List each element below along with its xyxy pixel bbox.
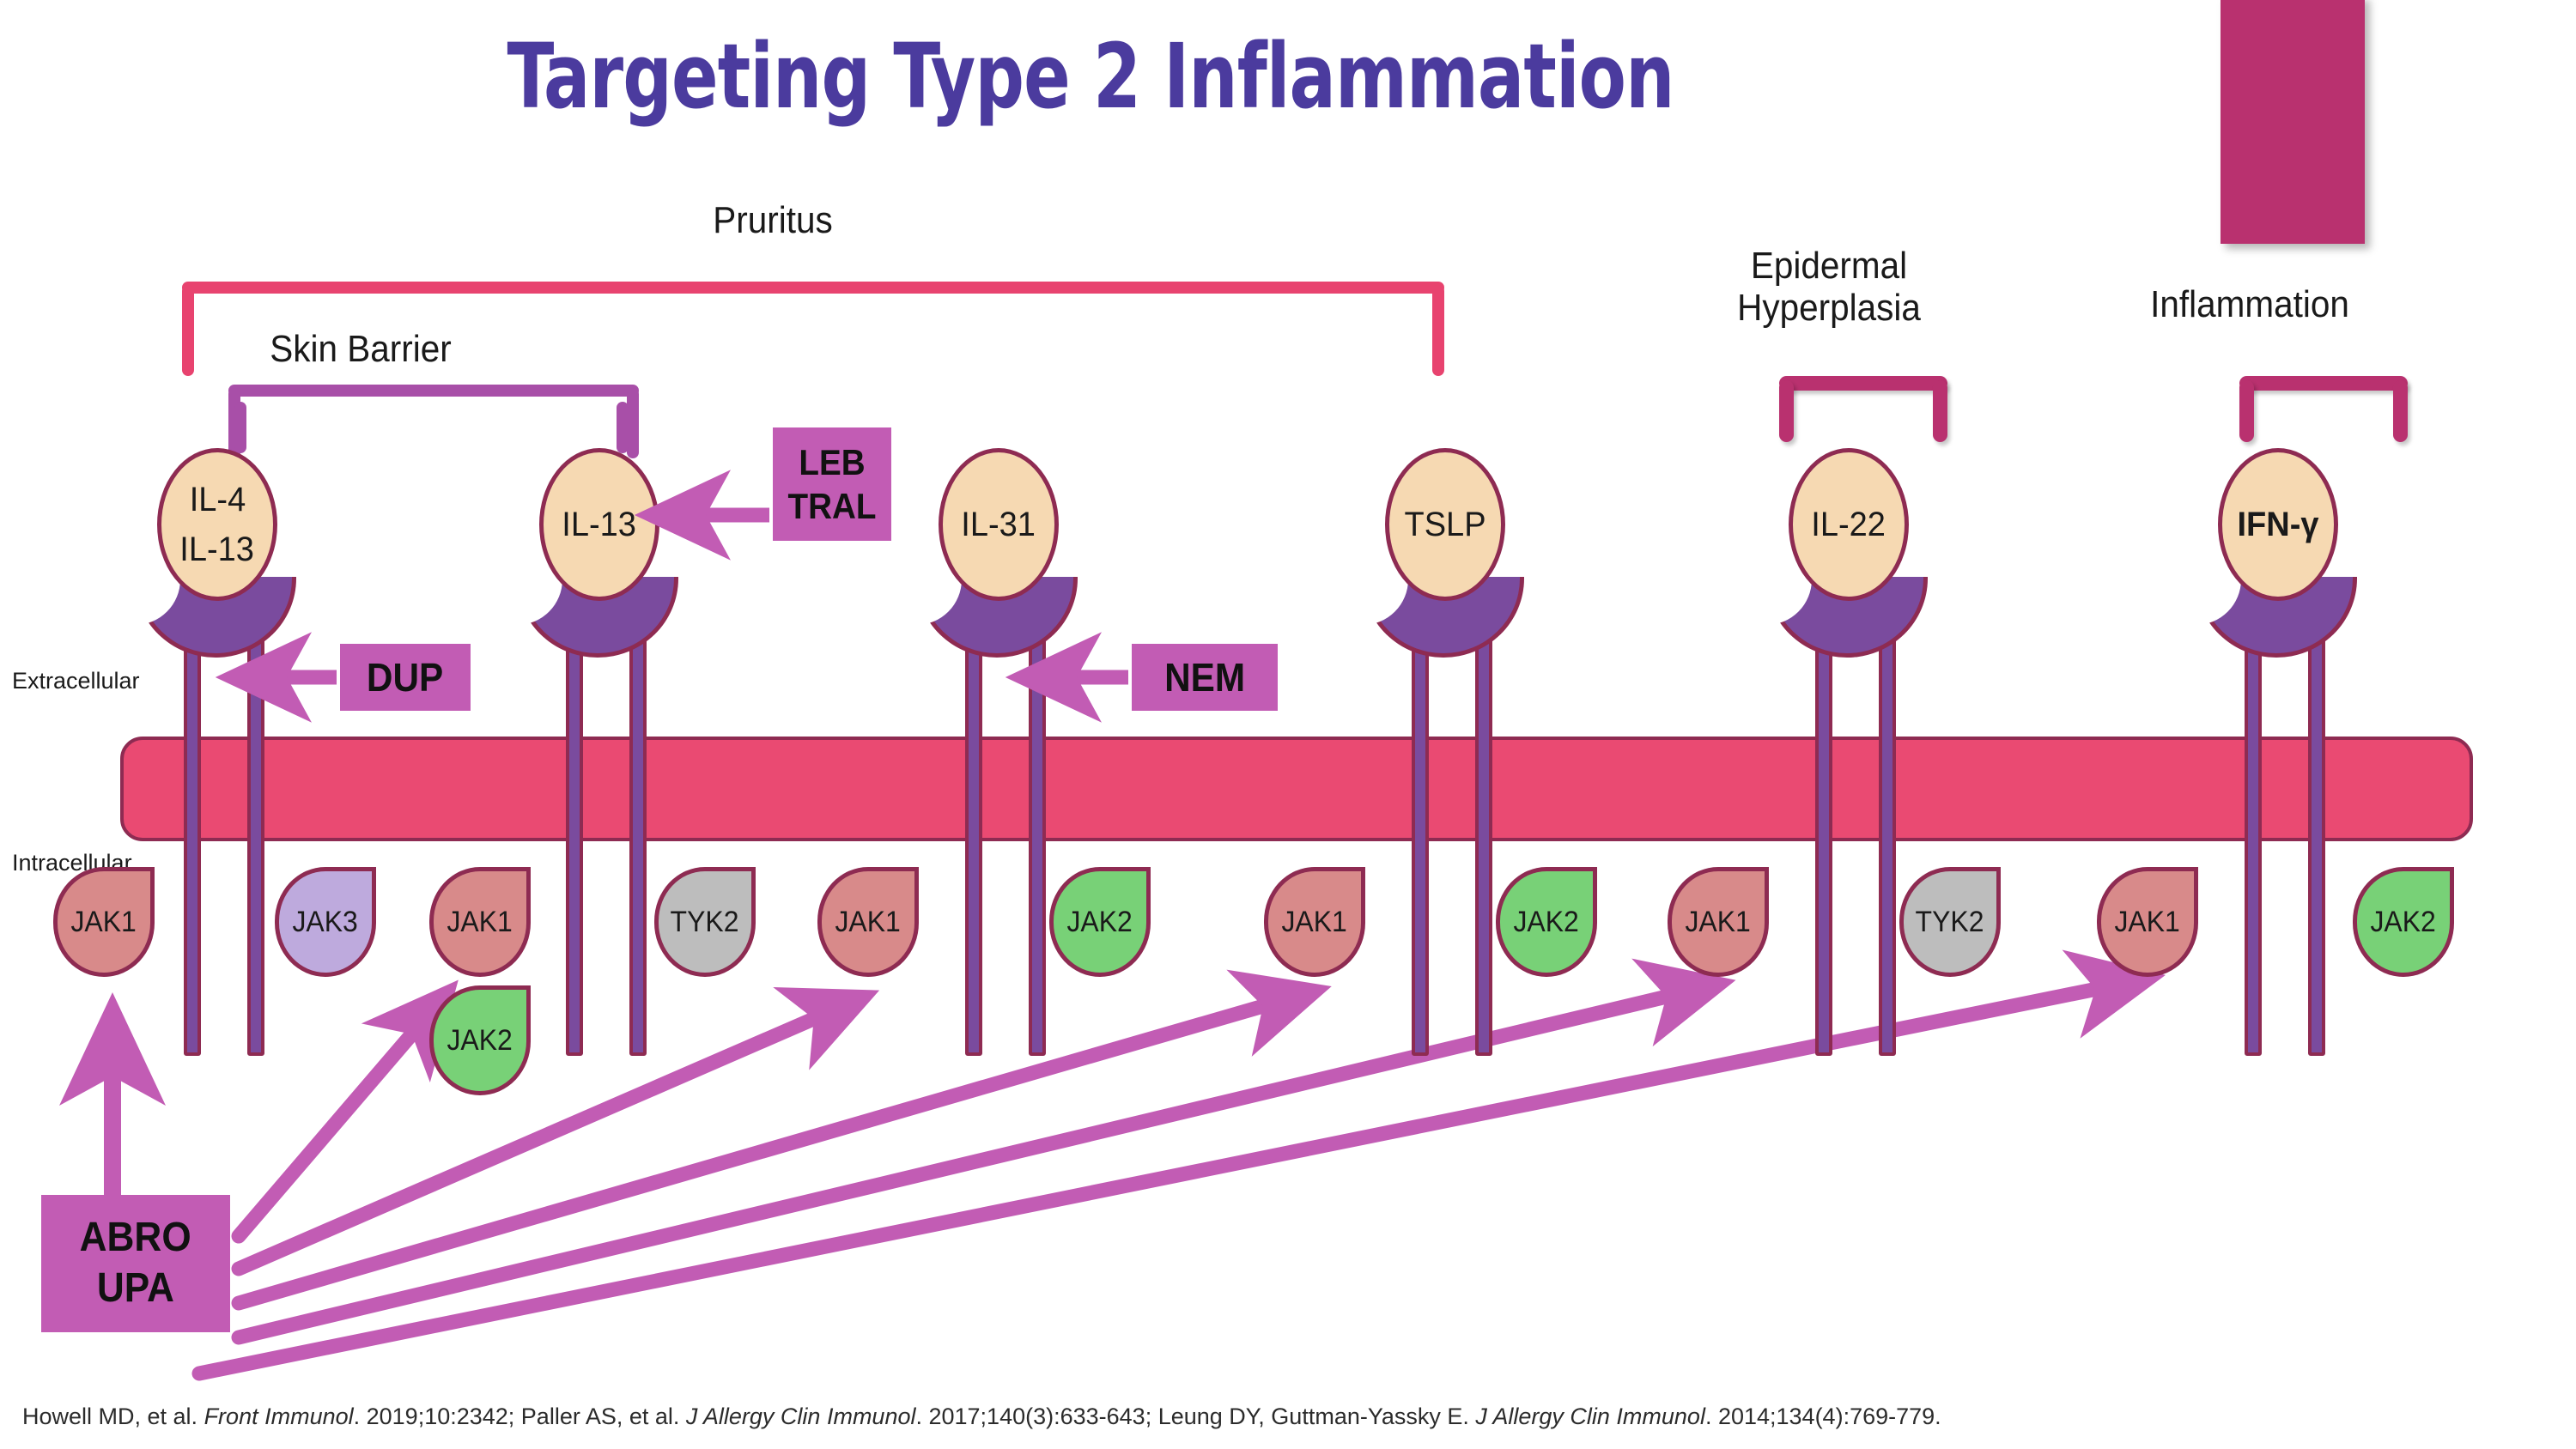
accent-block	[2221, 0, 2365, 244]
label-pruritus: Pruritus	[662, 199, 884, 241]
citation-part: . 2017;140(3):633-643; Leung DY, Guttman…	[915, 1404, 1475, 1429]
drug-box-leb-tral[interactable]: LEB TRAL	[773, 427, 891, 541]
jak-tslp-right: JAK2	[1496, 867, 1597, 977]
jak-label: JAK1	[71, 906, 137, 939]
citation-journal: J Allergy Clin Immunol	[686, 1404, 916, 1429]
citation-part: Howell MD, et al.	[22, 1404, 204, 1429]
jak-label: TYK2	[1916, 906, 1984, 939]
jak-label: JAK1	[1686, 906, 1751, 939]
receptor-stem-right	[1029, 592, 1046, 1056]
cytokine-line: IL-31	[962, 500, 1036, 549]
drug-box-nem[interactable]: NEM	[1132, 644, 1278, 711]
jak-label: JAK2	[447, 1024, 513, 1058]
citation: Howell MD, et al. Front Immunol. 2019;10…	[22, 1404, 1941, 1430]
bracket-epidermal-hyperplasia	[1779, 376, 1947, 443]
drug-box-dup[interactable]: DUP	[340, 644, 471, 711]
citation-journal: Front Immunol	[204, 1404, 354, 1429]
label-inflammation: Inflammation	[2099, 283, 2400, 325]
jak-label: JAK3	[293, 906, 358, 939]
cytokine-line: IL-4	[189, 475, 245, 524]
cytokine-line: IFN-γ	[2238, 500, 2319, 549]
arrow-abro-to-tslp-jak	[239, 1001, 1281, 1303]
drug-label: NEM	[1164, 653, 1245, 701]
jak-label: JAK1	[1282, 906, 1347, 939]
jak-il13-left: JAK1	[429, 867, 531, 977]
cytokine-il13: IL-13	[539, 448, 659, 601]
jak-label: JAK2	[1514, 906, 1579, 939]
cell-membrane	[120, 737, 2473, 841]
jak-label: JAK1	[2115, 906, 2180, 939]
slide-canvas: Targeting Type 2 Inflammation Pruritus S…	[0, 0, 2576, 1449]
receptor-stem-right	[1879, 592, 1896, 1056]
jak-label: TYK2	[671, 906, 739, 939]
receptor-stem-left	[2245, 592, 2262, 1056]
receptor-stem-right	[629, 592, 647, 1056]
cytokine-line: IL-22	[1812, 500, 1886, 549]
cytokine-il31: IL-31	[939, 448, 1059, 601]
jak-ifng-left: JAK1	[2097, 867, 2198, 977]
citation-part: . 2014;134(4):769-779.	[1705, 1404, 1941, 1429]
cytokine-il4-il13: IL-4 IL-13	[157, 448, 277, 601]
jak-il22-left: JAK1	[1668, 867, 1769, 977]
jak-label: JAK1	[447, 906, 513, 939]
drug-box-abro-upa[interactable]: ABRO UPA	[41, 1195, 230, 1332]
stub-il4-il13	[234, 402, 246, 453]
arrow-layer-jak	[0, 0, 2576, 1449]
cytokine-ifng: IFN-γ	[2218, 448, 2338, 601]
jak-ifng-right: JAK2	[2353, 867, 2454, 977]
jak-label: JAK1	[835, 906, 901, 939]
receptor-stem-right	[247, 592, 264, 1056]
jak-il22-right: TYK2	[1899, 867, 2001, 977]
bracket-inflammation	[2239, 376, 2408, 443]
cytokine-line: TSLP	[1404, 500, 1485, 549]
arrow-abro-to-il31-jak	[239, 1011, 831, 1269]
drug-label: TRAL	[787, 484, 876, 528]
jak-il4-il13-left: JAK1	[53, 867, 155, 977]
cytokine-tslp: TSLP	[1385, 448, 1505, 601]
jak-tslp-left: JAK1	[1264, 867, 1365, 977]
receptor-stem-right	[1475, 592, 1492, 1056]
label-extracellular: Extracellular	[12, 668, 140, 694]
receptor-stem-right	[2308, 592, 2325, 1056]
receptor-stem-left	[184, 592, 201, 1056]
page-title: Targeting Type 2 Inflammation	[153, 24, 2028, 129]
cytokine-line: IL-13	[180, 524, 255, 574]
receptor-stem-left	[566, 592, 583, 1056]
arrow-layer-drugs	[0, 0, 2576, 1449]
jak-label: JAK2	[2371, 906, 2436, 939]
bracket-pruritus	[182, 282, 1444, 376]
label-epidermal-hyperplasia: Epidermal Hyperplasia	[1698, 245, 1959, 330]
drug-label: LEB	[799, 440, 865, 484]
jak-il13-right: TYK2	[654, 867, 756, 977]
jak-il4-il13-right: JAK3	[275, 867, 376, 977]
stub-il13	[617, 402, 629, 453]
cytokine-il22: IL-22	[1789, 448, 1909, 601]
receptor-stem-left	[1412, 592, 1429, 1056]
receptor-stem-left	[1815, 592, 1832, 1056]
receptor-stem-left	[965, 592, 982, 1056]
cytokine-line: IL-13	[562, 500, 637, 549]
arrow-abro-to-il13-jak	[239, 1020, 424, 1236]
jak-il31-left: JAK1	[817, 867, 919, 977]
drug-label: UPA	[97, 1264, 174, 1314]
drug-label: ABRO	[80, 1213, 191, 1264]
drug-label: DUP	[367, 653, 443, 701]
jak-il31-right: JAK2	[1049, 867, 1151, 977]
jak-il13-extra: JAK2	[429, 985, 531, 1095]
citation-journal: J Allergy Clin Immunol	[1475, 1404, 1705, 1429]
bracket-skin-barrier	[228, 385, 639, 458]
jak-label: JAK2	[1067, 906, 1133, 939]
citation-part: . 2019;10:2342; Paller AS, et al.	[354, 1404, 686, 1429]
